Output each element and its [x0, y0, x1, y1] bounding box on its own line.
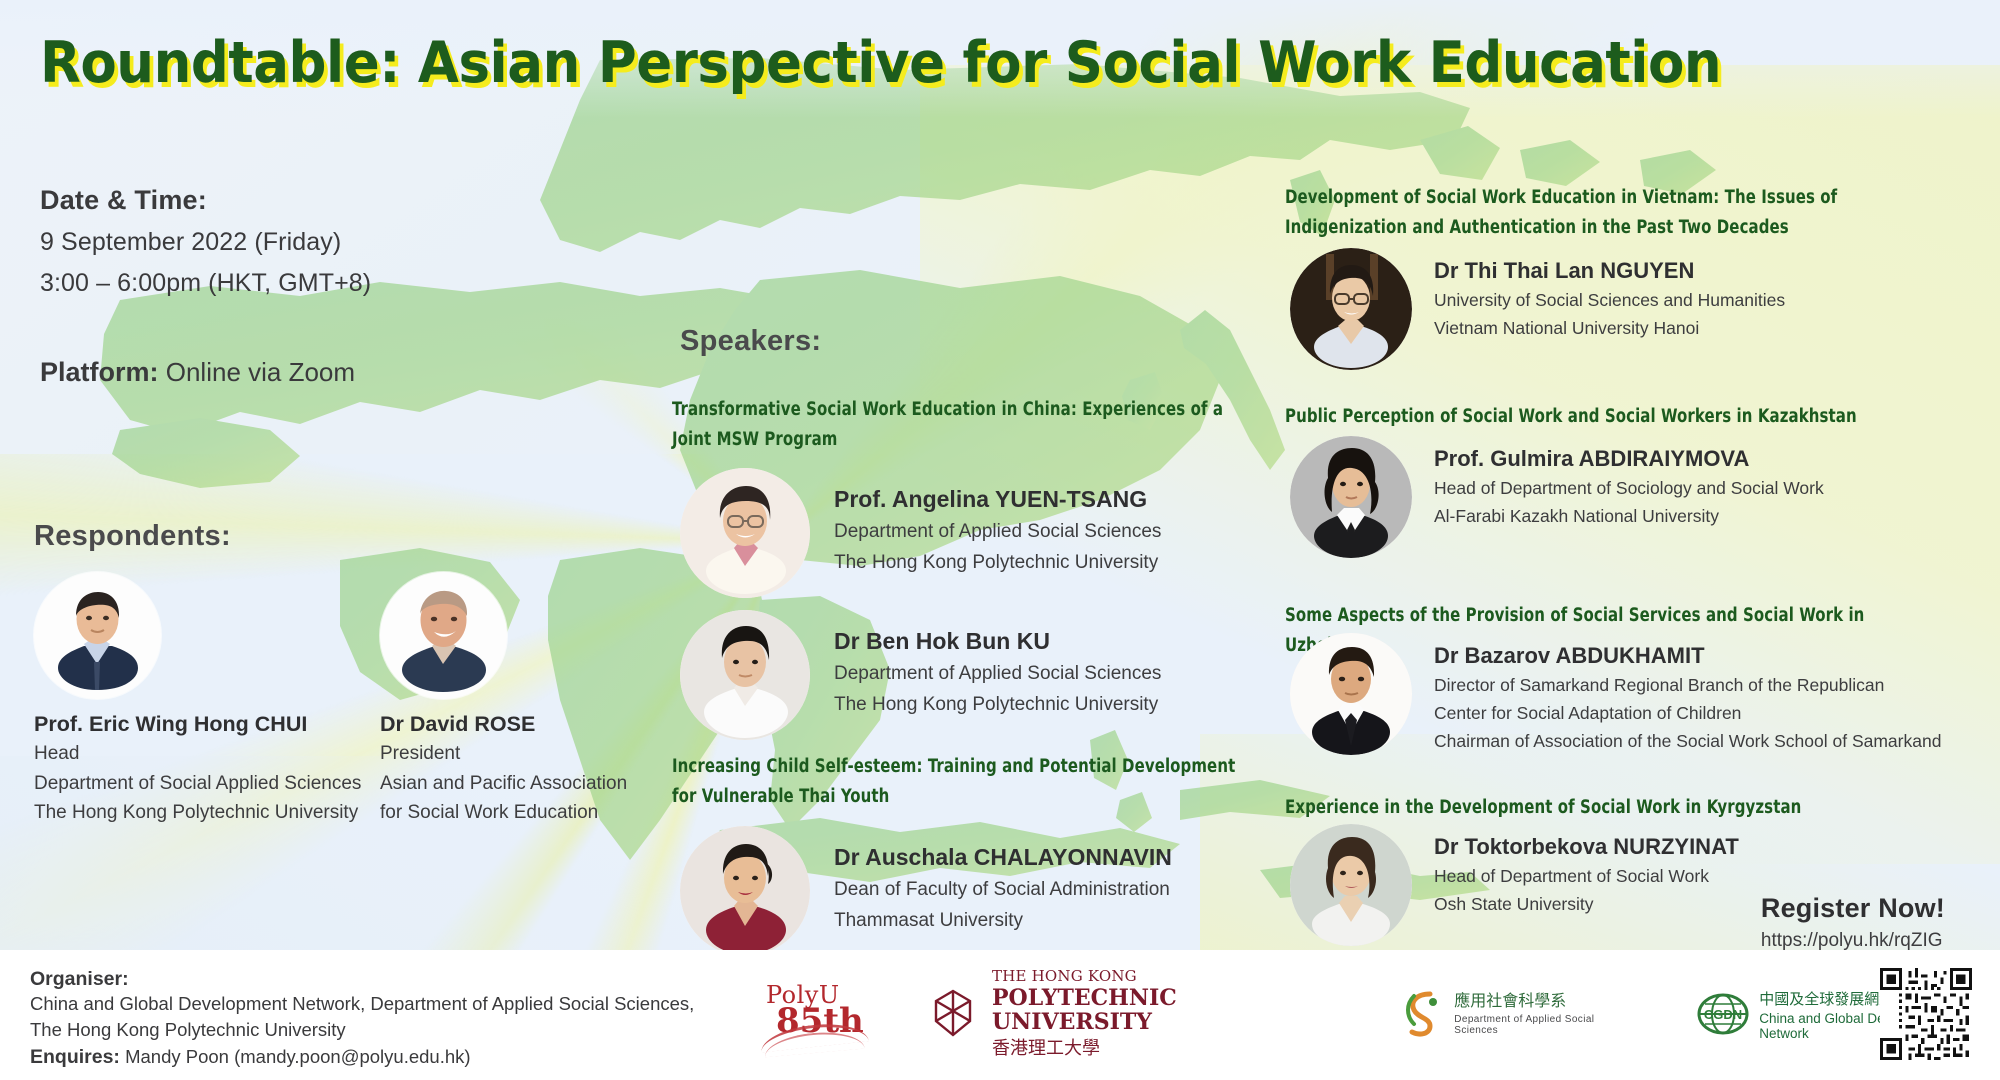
- event-date: 9 September 2022 (Friday): [40, 228, 560, 257]
- speaker-row-nguyen: Dr Thi Thai Lan NGUYEN University of Soc…: [1290, 248, 1785, 370]
- hkpu-logo-line1: THE HONG KONG: [992, 967, 1137, 985]
- platform-label: Platform:: [40, 357, 159, 387]
- organiser-label: Organiser:: [30, 968, 694, 991]
- logo-strip: PolyU 85th: [760, 964, 2000, 1064]
- respondent-name: Dr David ROSE: [380, 712, 710, 737]
- respondent-line: Department of Social Applied Sciences: [34, 771, 364, 797]
- session-title-kyrgyzstan: Experience in the Development of Social …: [1285, 793, 1933, 823]
- speaker-affiliation: Head of Department of Sociology and Soci…: [1434, 477, 1824, 500]
- avatar: [680, 826, 810, 956]
- organiser-block: Organiser: China and Global Development …: [30, 968, 694, 1071]
- speaker-affiliation: The Hong Kong Polytechnic University: [834, 692, 1161, 717]
- speaker-name: Dr Bazarov ABDUKHAMIT: [1434, 643, 1941, 669]
- qr-code-icon[interactable]: [1880, 968, 1972, 1060]
- avatar: [1290, 633, 1412, 755]
- avatar: [34, 572, 161, 699]
- speaker-affiliation: Vietnam National University Hanoi: [1434, 317, 1785, 340]
- organiser-line: China and Global Development Network, De…: [30, 991, 694, 1017]
- respondent-card-2: Dr David ROSE President Asian and Pacifi…: [380, 572, 710, 826]
- respondents-heading: Respondents:: [34, 520, 231, 553]
- avatar: [680, 468, 810, 598]
- apss-logo: 應用社會科學系 Department of Applied Social Sci…: [1400, 988, 1641, 1040]
- speaker-affiliation: Al-Farabi Kazakh National University: [1434, 505, 1824, 528]
- cgdn-globe-icon: CGDN: [1697, 992, 1749, 1036]
- hkpu-crest-icon: [926, 987, 980, 1041]
- event-details: Date & Time: 9 September 2022 (Friday) 3…: [40, 185, 560, 298]
- speaker-affiliation: Osh State University: [1434, 893, 1739, 916]
- respondent-line: President: [380, 741, 710, 767]
- speaker-affiliation: The Hong Kong Polytechnic University: [834, 550, 1161, 575]
- avatar: [680, 610, 810, 740]
- speaker-row-abdiraiymova: Prof. Gulmira ABDIRAIYMOVA Head of Depar…: [1290, 436, 1824, 558]
- speaker-affiliation: Thammasat University: [834, 908, 1172, 933]
- speaker-row-nurzyinat: Dr Toktorbekova NURZYINAT Head of Depart…: [1290, 824, 1739, 946]
- session-title-kazakhstan: Public Perception of Social Work and Soc…: [1285, 402, 1933, 432]
- page-title: Roundtable: Asian Perspective for Social…: [40, 30, 1721, 96]
- respondent-card-1: Prof. Eric Wing Hong CHUI Head Departmen…: [34, 572, 364, 826]
- organiser-line: The Hong Kong Polytechnic University: [30, 1017, 694, 1043]
- avatar: [1290, 824, 1412, 946]
- apss-logo-line1: 應用社會科學系: [1454, 992, 1641, 1011]
- respondent-line: Asian and Pacific Association: [380, 771, 710, 797]
- platform-row: Platform: Online via Zoom: [40, 357, 355, 388]
- respondent-line: for Social Work Education: [380, 800, 710, 826]
- register-url[interactable]: https://polyu.hk/rqZIG: [1761, 930, 1945, 952]
- speaker-affiliation: Chairman of Association of the Social Wo…: [1434, 730, 1941, 753]
- cgdn-abbr: CGDN: [1704, 1007, 1742, 1022]
- speaker-name: Prof. Gulmira ABDIRAIYMOVA: [1434, 446, 1824, 472]
- speaker-affiliation: Department of Applied Social Sciences: [834, 519, 1161, 544]
- hkpu-logo: THE HONG KONG POLYTECHNIC UNIVERSITY 香港理…: [926, 968, 1344, 1060]
- respondent-name: Prof. Eric Wing Hong CHUI: [34, 712, 364, 737]
- speaker-affiliation: Department of Applied Social Sciences: [834, 661, 1161, 686]
- speaker-row-yuen-tsang: Prof. Angelina YUEN-TSANG Department of …: [680, 468, 1161, 598]
- avatar: [1290, 436, 1412, 558]
- enquires-value: Mandy Poon (mandy.poon@polyu.edu.hk): [125, 1046, 470, 1067]
- enquires-label: Enquires:: [30, 1046, 120, 1068]
- date-time-label: Date & Time:: [40, 185, 560, 216]
- speaker-name: Dr Thi Thai Lan NGUYEN: [1434, 258, 1785, 284]
- hkpu-logo-line2: POLYTECHNIC UNIVERSITY: [992, 985, 1177, 1035]
- speaker-row-abdukhamit: Dr Bazarov ABDUKHAMIT Director of Samark…: [1290, 633, 1941, 755]
- polyu-85th-logo: PolyU 85th: [760, 977, 870, 1051]
- speaker-name: Dr Auschala CHALAYONNAVIN: [834, 844, 1172, 871]
- speaker-affiliation: University of Social Sciences and Humani…: [1434, 289, 1785, 312]
- speaker-affiliation: Dean of Faculty of Social Administration: [834, 877, 1172, 902]
- speaker-affiliation: Head of Department of Social Work: [1434, 865, 1739, 888]
- avatar: [380, 572, 507, 699]
- speaker-name: Dr Ben Hok Bun KU: [834, 628, 1161, 655]
- speaker-row-ku: Dr Ben Hok Bun KU Department of Applied …: [680, 610, 1161, 740]
- speakers-heading: Speakers:: [680, 325, 821, 358]
- respondent-line: Head: [34, 741, 364, 767]
- event-time: 3:00 – 6:00pm (HKT, GMT+8): [40, 269, 560, 298]
- platform-value: Online via Zoom: [166, 357, 355, 387]
- speaker-name: Prof. Angelina YUEN-TSANG: [834, 486, 1161, 513]
- poster-canvas: Roundtable: Asian Perspective for Social…: [0, 0, 2000, 1080]
- register-title: Register Now!: [1761, 893, 1945, 924]
- speaker-affiliation: Center for Social Adaptation of Children: [1434, 702, 1941, 725]
- session-title-thailand: Increasing Child Self-esteem: Training a…: [672, 752, 1248, 812]
- speaker-row-chalayonnavin: Dr Auschala CHALAYONNAVIN Dean of Facult…: [680, 826, 1172, 956]
- apss-symbol-icon: [1400, 988, 1444, 1040]
- apss-logo-line2: Department of Applied Social Sciences: [1454, 1014, 1641, 1036]
- hkpu-logo-line3: 香港理工大學: [992, 1038, 1100, 1058]
- enquires-row: Enquires: Mandy Poon (mandy.poon@polyu.e…: [30, 1044, 694, 1072]
- respondent-line: The Hong Kong Polytechnic University: [34, 800, 364, 826]
- footer-bar: Organiser: China and Global Development …: [0, 950, 2000, 1080]
- speaker-affiliation: Director of Samarkand Regional Branch of…: [1434, 674, 1941, 697]
- session-title-china: Transformative Social Work Education in …: [672, 395, 1230, 455]
- session-title-vietnam: Development of Social Work Education in …: [1285, 183, 1933, 243]
- speaker-name: Dr Toktorbekova NURZYINAT: [1434, 834, 1739, 860]
- register-block[interactable]: Register Now! https://polyu.hk/rqZIG: [1761, 893, 1945, 952]
- avatar: [1290, 248, 1412, 370]
